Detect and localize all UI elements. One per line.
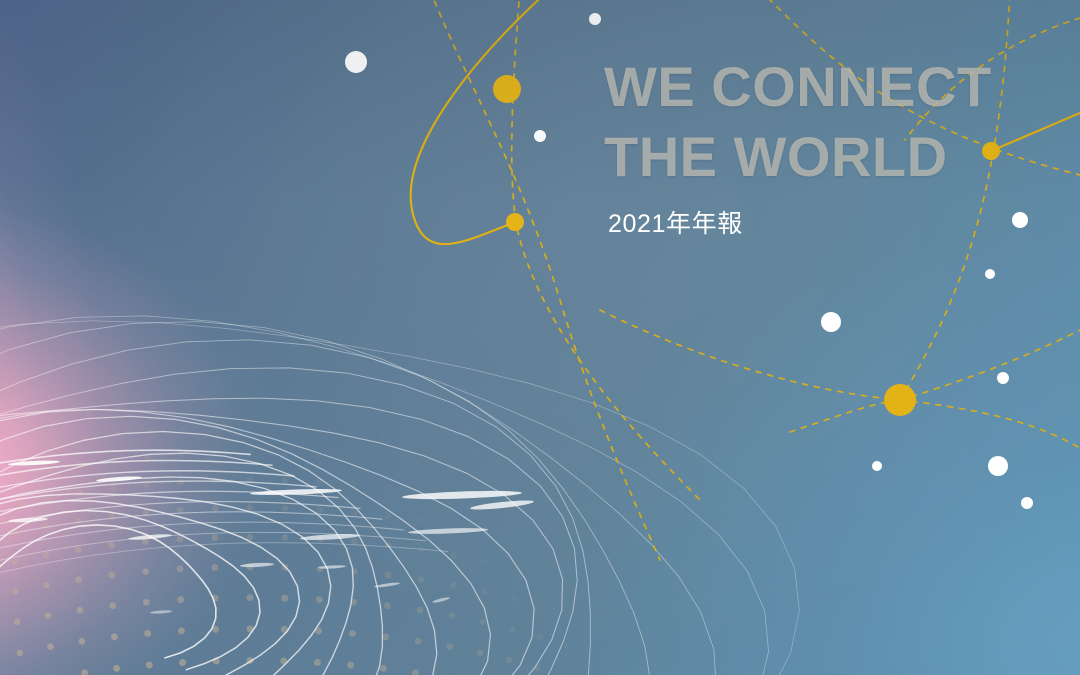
headline-line-2: THE WORLD bbox=[604, 125, 1034, 189]
cover-title-block: WE CONNECT THE WORLD 2021年年報 bbox=[604, 55, 1034, 239]
white-node-dot bbox=[872, 461, 882, 471]
headline-line-1: WE CONNECT bbox=[604, 55, 1034, 119]
dash-arc-h bbox=[790, 400, 900, 432]
gold-node-dot bbox=[884, 384, 916, 416]
white-node-dot bbox=[988, 456, 1008, 476]
white-node-dot bbox=[821, 312, 841, 332]
white-node-dot bbox=[589, 13, 601, 25]
dash-arc-i bbox=[900, 330, 1080, 400]
dash-arc-f bbox=[600, 310, 900, 400]
white-node-dot bbox=[997, 372, 1009, 384]
white-node-dot bbox=[345, 51, 367, 73]
white-node-dot bbox=[534, 130, 546, 142]
dash-arc-g bbox=[900, 400, 1080, 448]
cover-subtitle: 2021年年報 bbox=[608, 209, 1034, 239]
gold-node-dot bbox=[506, 213, 524, 231]
white-node-dot bbox=[985, 269, 995, 279]
white-node-dot bbox=[1021, 497, 1033, 509]
gold-node-dot bbox=[493, 75, 521, 103]
annual-report-cover: WE CONNECT THE WORLD 2021年年報 bbox=[0, 0, 1080, 675]
curve-sweep-left bbox=[411, 0, 560, 244]
